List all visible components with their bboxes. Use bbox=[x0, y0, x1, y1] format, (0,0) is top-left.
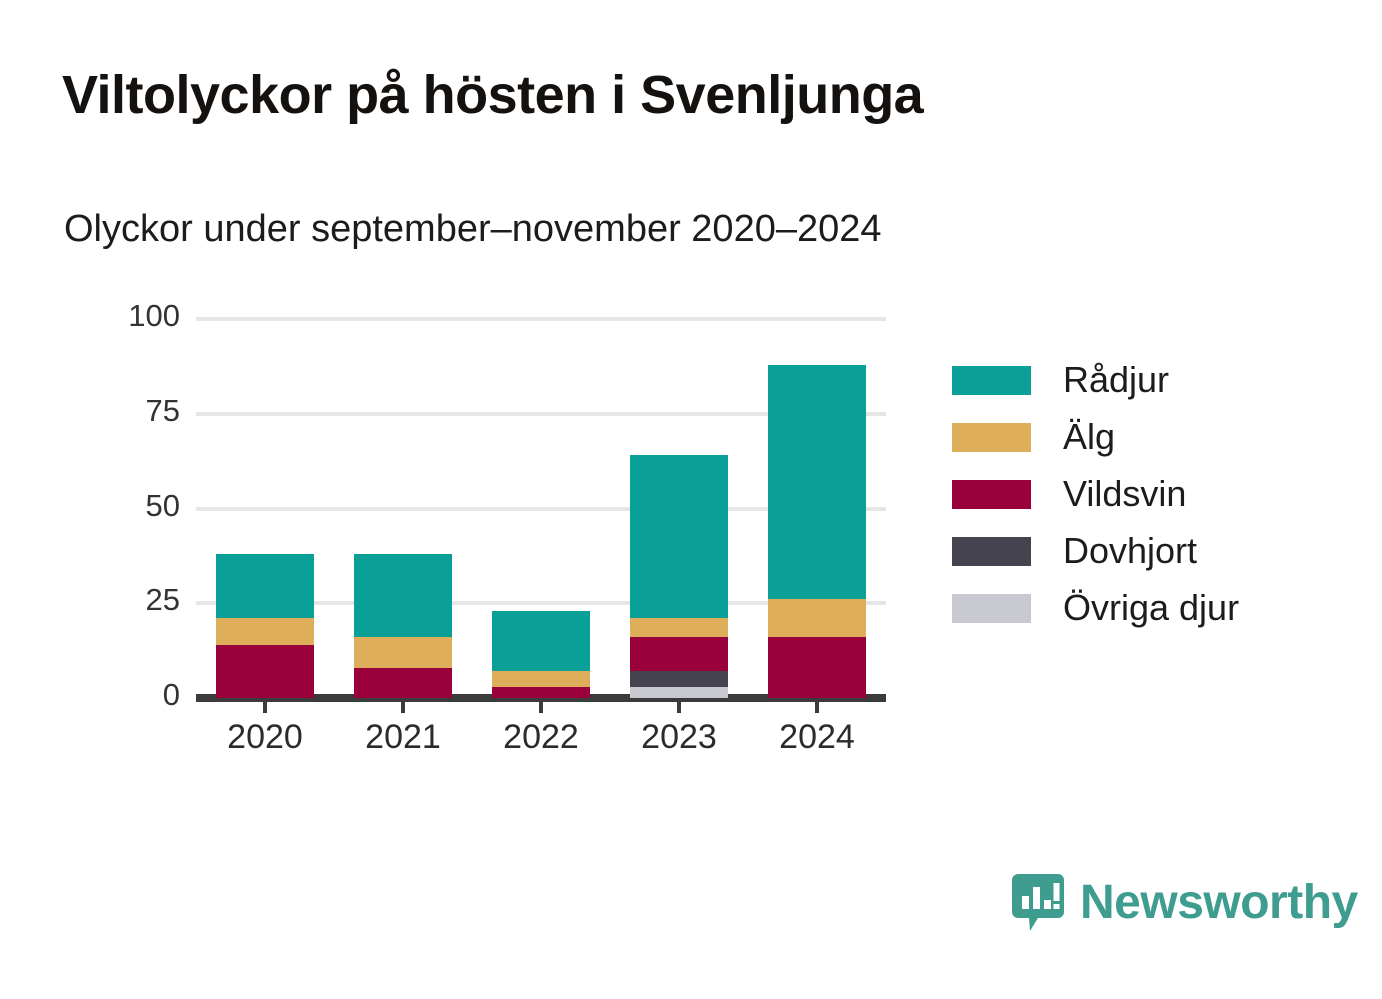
bar-segment-älg[interactable] bbox=[492, 671, 590, 686]
bar-group-2020[interactable] bbox=[216, 319, 314, 698]
x-axis-tick-mark bbox=[815, 701, 819, 713]
bar-segment-övriga-djur[interactable] bbox=[630, 687, 728, 698]
bars-layer bbox=[196, 319, 886, 698]
y-axis-tick-label: 50 bbox=[60, 488, 180, 524]
y-axis-tick-label: 75 bbox=[60, 393, 180, 429]
x-axis-tick-mark bbox=[677, 701, 681, 713]
bar-segment-vildsvin[interactable] bbox=[630, 637, 728, 671]
legend-swatch bbox=[952, 594, 1031, 623]
x-axis-tick-mark bbox=[263, 701, 267, 713]
legend-swatch bbox=[952, 423, 1031, 452]
bar-segment-rådjur[interactable] bbox=[216, 554, 314, 618]
bar-group-2024[interactable] bbox=[768, 319, 866, 698]
legend-label: Älg bbox=[1063, 416, 1115, 458]
bar-segment-rådjur[interactable] bbox=[354, 554, 452, 637]
legend-swatch bbox=[952, 366, 1031, 395]
legend-item-älg[interactable]: Älg bbox=[952, 409, 1352, 465]
bar-segment-älg[interactable] bbox=[354, 637, 452, 667]
x-axis-tick-label: 2024 bbox=[737, 718, 897, 757]
x-axis-tick-mark bbox=[539, 701, 543, 713]
bar-group-2021[interactable] bbox=[354, 319, 452, 698]
legend-item-rådjur[interactable]: Rådjur bbox=[952, 352, 1352, 408]
newsworthy-logo: Newsworthy bbox=[1012, 874, 1358, 932]
x-axis-tick-label: 2021 bbox=[323, 718, 483, 757]
y-axis-tick-label: 100 bbox=[60, 298, 180, 334]
legend: RådjurÄlgVildsvinDovhjortÖvriga djur bbox=[952, 352, 1352, 637]
bar-segment-älg[interactable] bbox=[768, 599, 866, 637]
legend-swatch bbox=[952, 480, 1031, 509]
x-axis-tick-label: 2023 bbox=[599, 718, 759, 757]
legend-item-dovhjort[interactable]: Dovhjort bbox=[952, 523, 1352, 579]
y-axis-tick-label: 0 bbox=[60, 677, 180, 713]
x-axis-tick-label: 2022 bbox=[461, 718, 621, 757]
legend-item-övriga-djur[interactable]: Övriga djur bbox=[952, 580, 1352, 636]
y-axis-tick-label: 25 bbox=[60, 582, 180, 618]
legend-label: Rådjur bbox=[1063, 359, 1169, 401]
bar-segment-vildsvin[interactable] bbox=[354, 668, 452, 698]
bar-segment-älg[interactable] bbox=[630, 618, 728, 637]
logo-wordmark: Newsworthy bbox=[1080, 879, 1358, 927]
bar-segment-rådjur[interactable] bbox=[492, 611, 590, 672]
x-axis-tick-label: 2020 bbox=[185, 718, 345, 757]
bar-chart-speech-bubble-icon bbox=[1012, 874, 1064, 932]
bar-segment-rådjur[interactable] bbox=[768, 365, 866, 600]
legend-label: Vildsvin bbox=[1063, 473, 1186, 515]
legend-item-vildsvin[interactable]: Vildsvin bbox=[952, 466, 1352, 522]
legend-label: Dovhjort bbox=[1063, 530, 1197, 572]
bar-segment-vildsvin[interactable] bbox=[768, 637, 866, 698]
legend-swatch bbox=[952, 537, 1031, 566]
x-axis-tick-mark bbox=[401, 701, 405, 713]
legend-label: Övriga djur bbox=[1063, 587, 1239, 629]
bar-segment-rådjur[interactable] bbox=[630, 455, 728, 618]
chart-page: Viltolyckor på hösten i Svenljunga Olyck… bbox=[0, 0, 1382, 999]
bar-segment-älg[interactable] bbox=[216, 618, 314, 645]
bar-segment-dovhjort[interactable] bbox=[630, 671, 728, 686]
bar-group-2023[interactable] bbox=[630, 319, 728, 698]
bar-group-2022[interactable] bbox=[492, 319, 590, 698]
bar-segment-vildsvin[interactable] bbox=[216, 645, 314, 698]
bar-segment-vildsvin[interactable] bbox=[492, 687, 590, 698]
